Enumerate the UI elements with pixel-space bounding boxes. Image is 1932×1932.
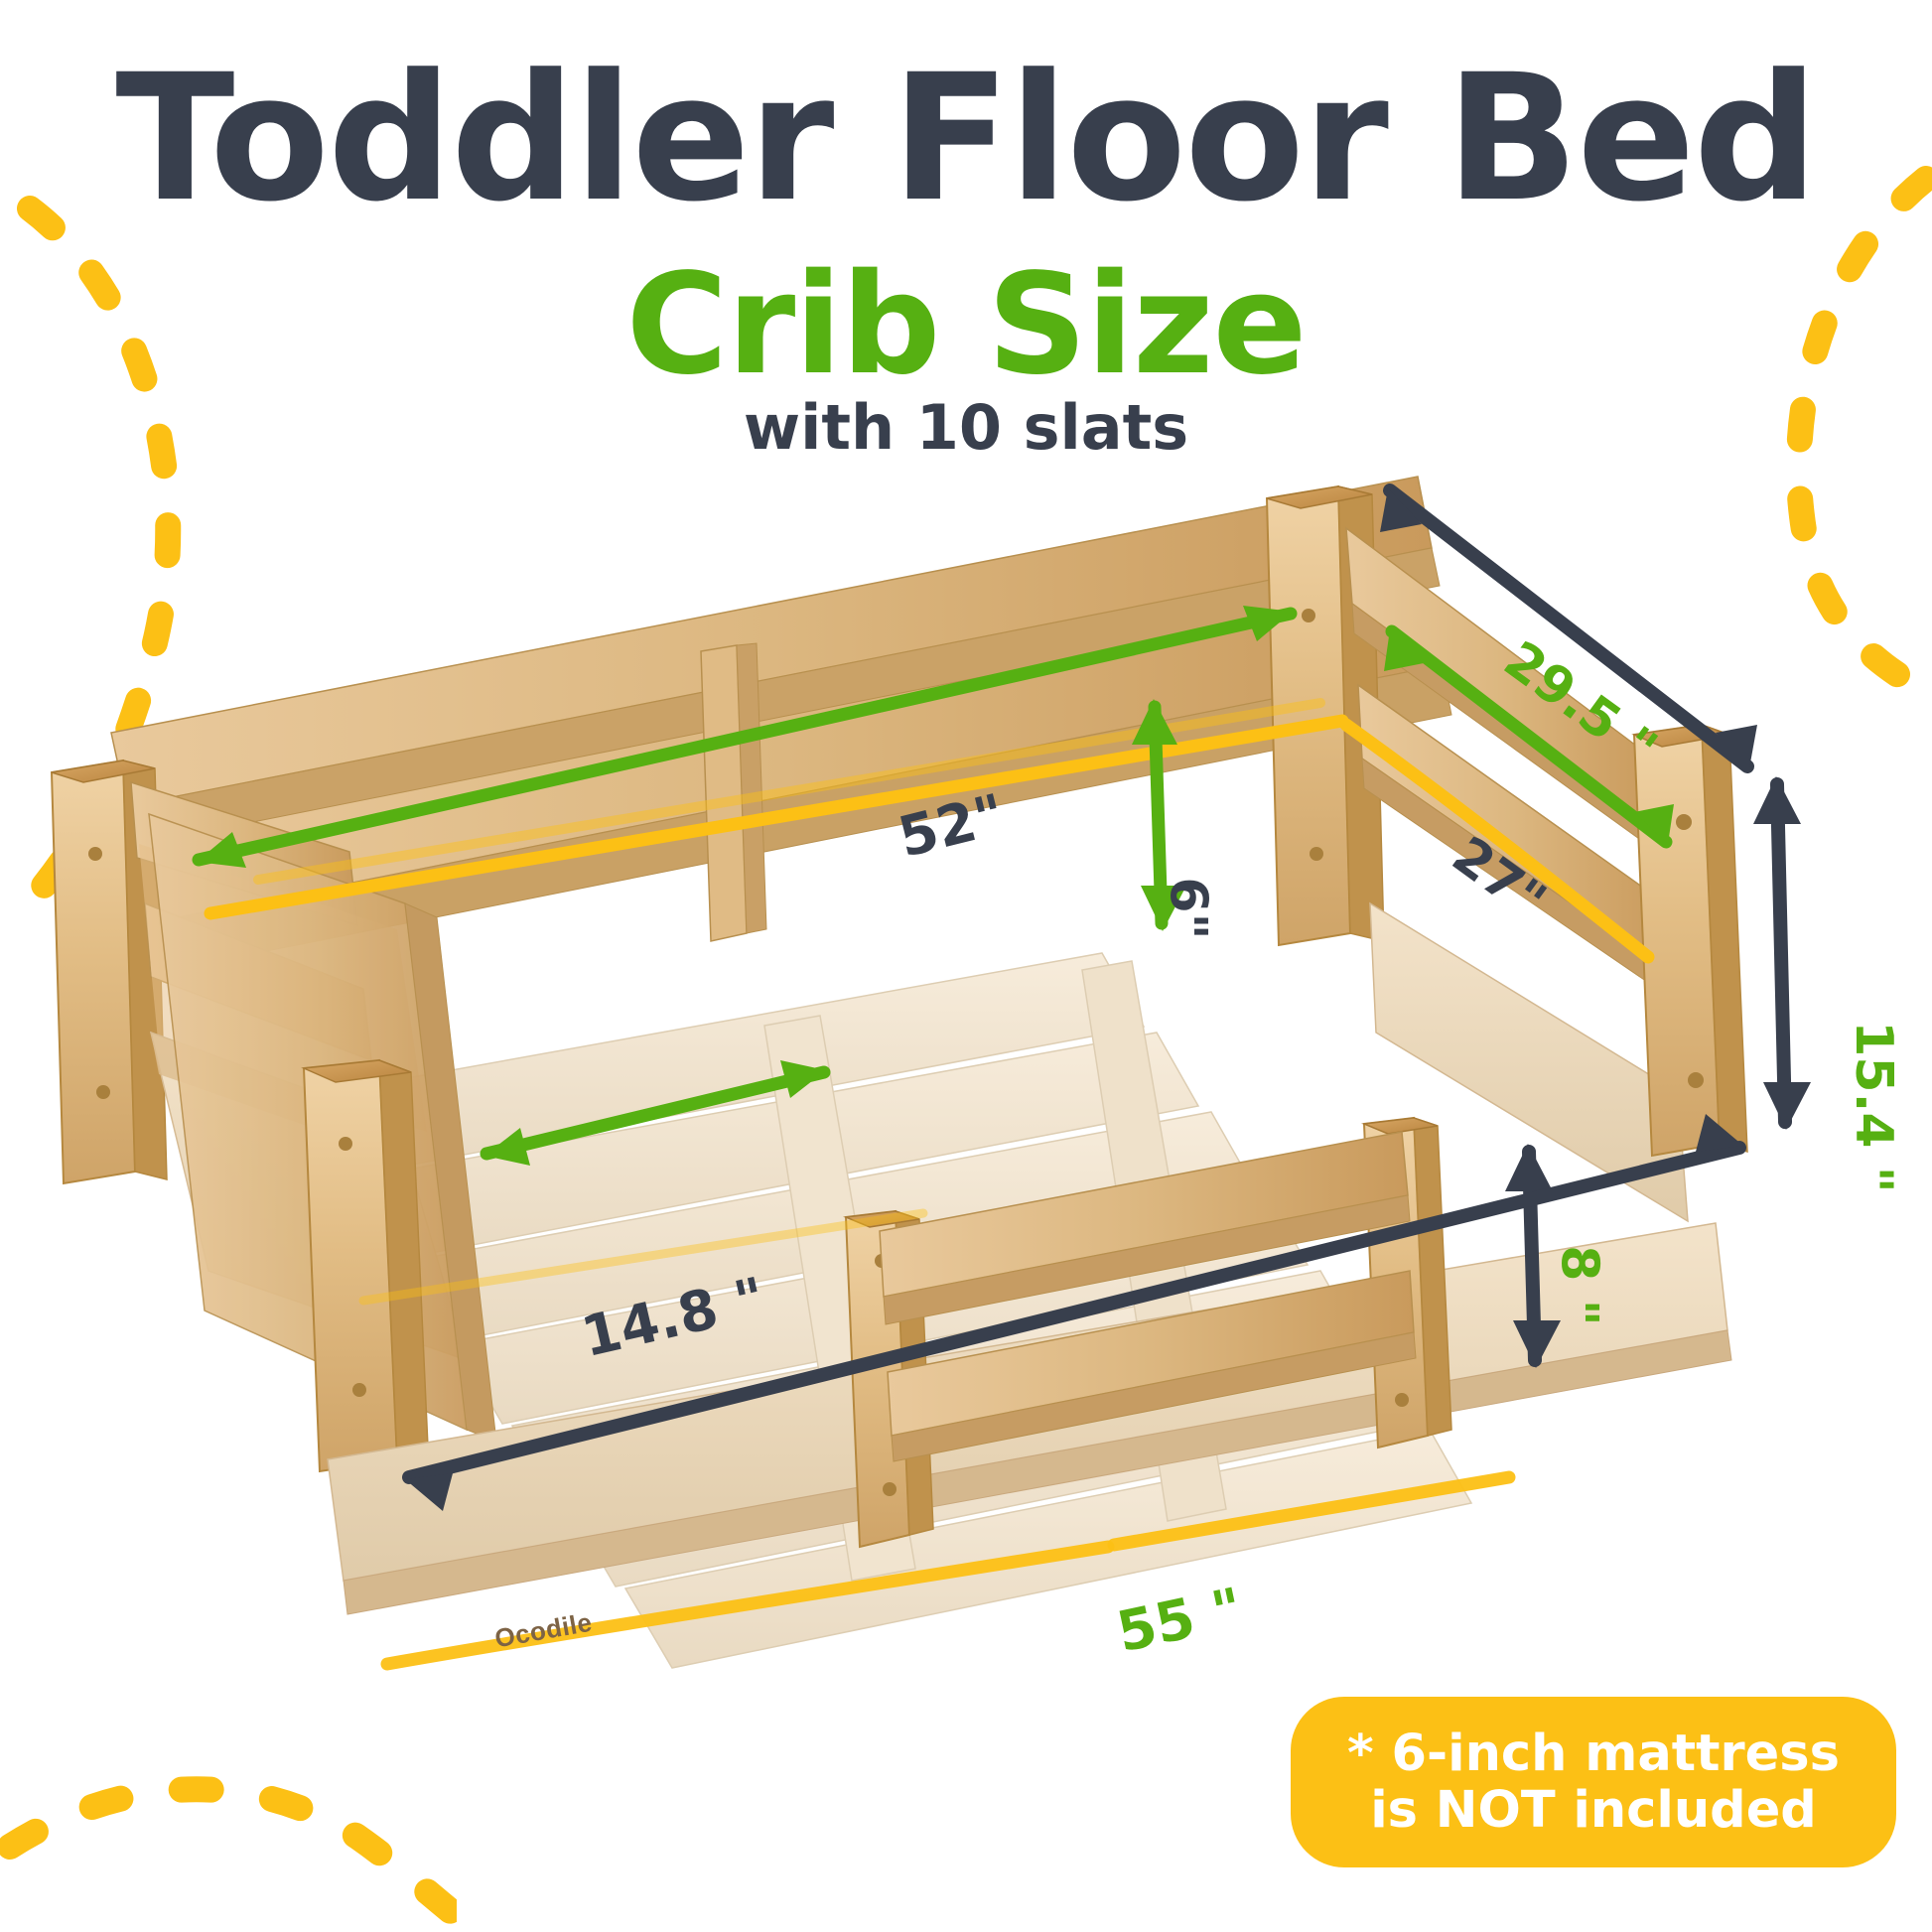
dashed-curve-bottom-left bbox=[0, 1727, 457, 1932]
dimension-label-rail-height: 6" bbox=[1159, 877, 1218, 939]
arrow-height-total bbox=[1753, 776, 1811, 1130]
infographic-canvas: Toddler Floor Bed Crib Size with 10 slat… bbox=[0, 0, 1932, 1932]
badge-line-2: is NOT included bbox=[1370, 1782, 1817, 1839]
badge-line-1: * 6-inch mattress bbox=[1347, 1725, 1840, 1782]
dimension-label-height-frame: 8 " bbox=[1550, 1245, 1609, 1325]
dimension-label-height-total: 15.4 " bbox=[1844, 1021, 1903, 1193]
corner-post-front-right bbox=[1634, 725, 1747, 1156]
page-title: Toddler Floor Bed bbox=[0, 52, 1932, 226]
mattress-disclaimer-badge: * 6-inch mattress is NOT included bbox=[1291, 1697, 1896, 1867]
corner-post-front-left bbox=[304, 1060, 429, 1471]
page-subtitle: Crib Size bbox=[0, 256, 1932, 395]
bed-illustration bbox=[0, 437, 1932, 1727]
